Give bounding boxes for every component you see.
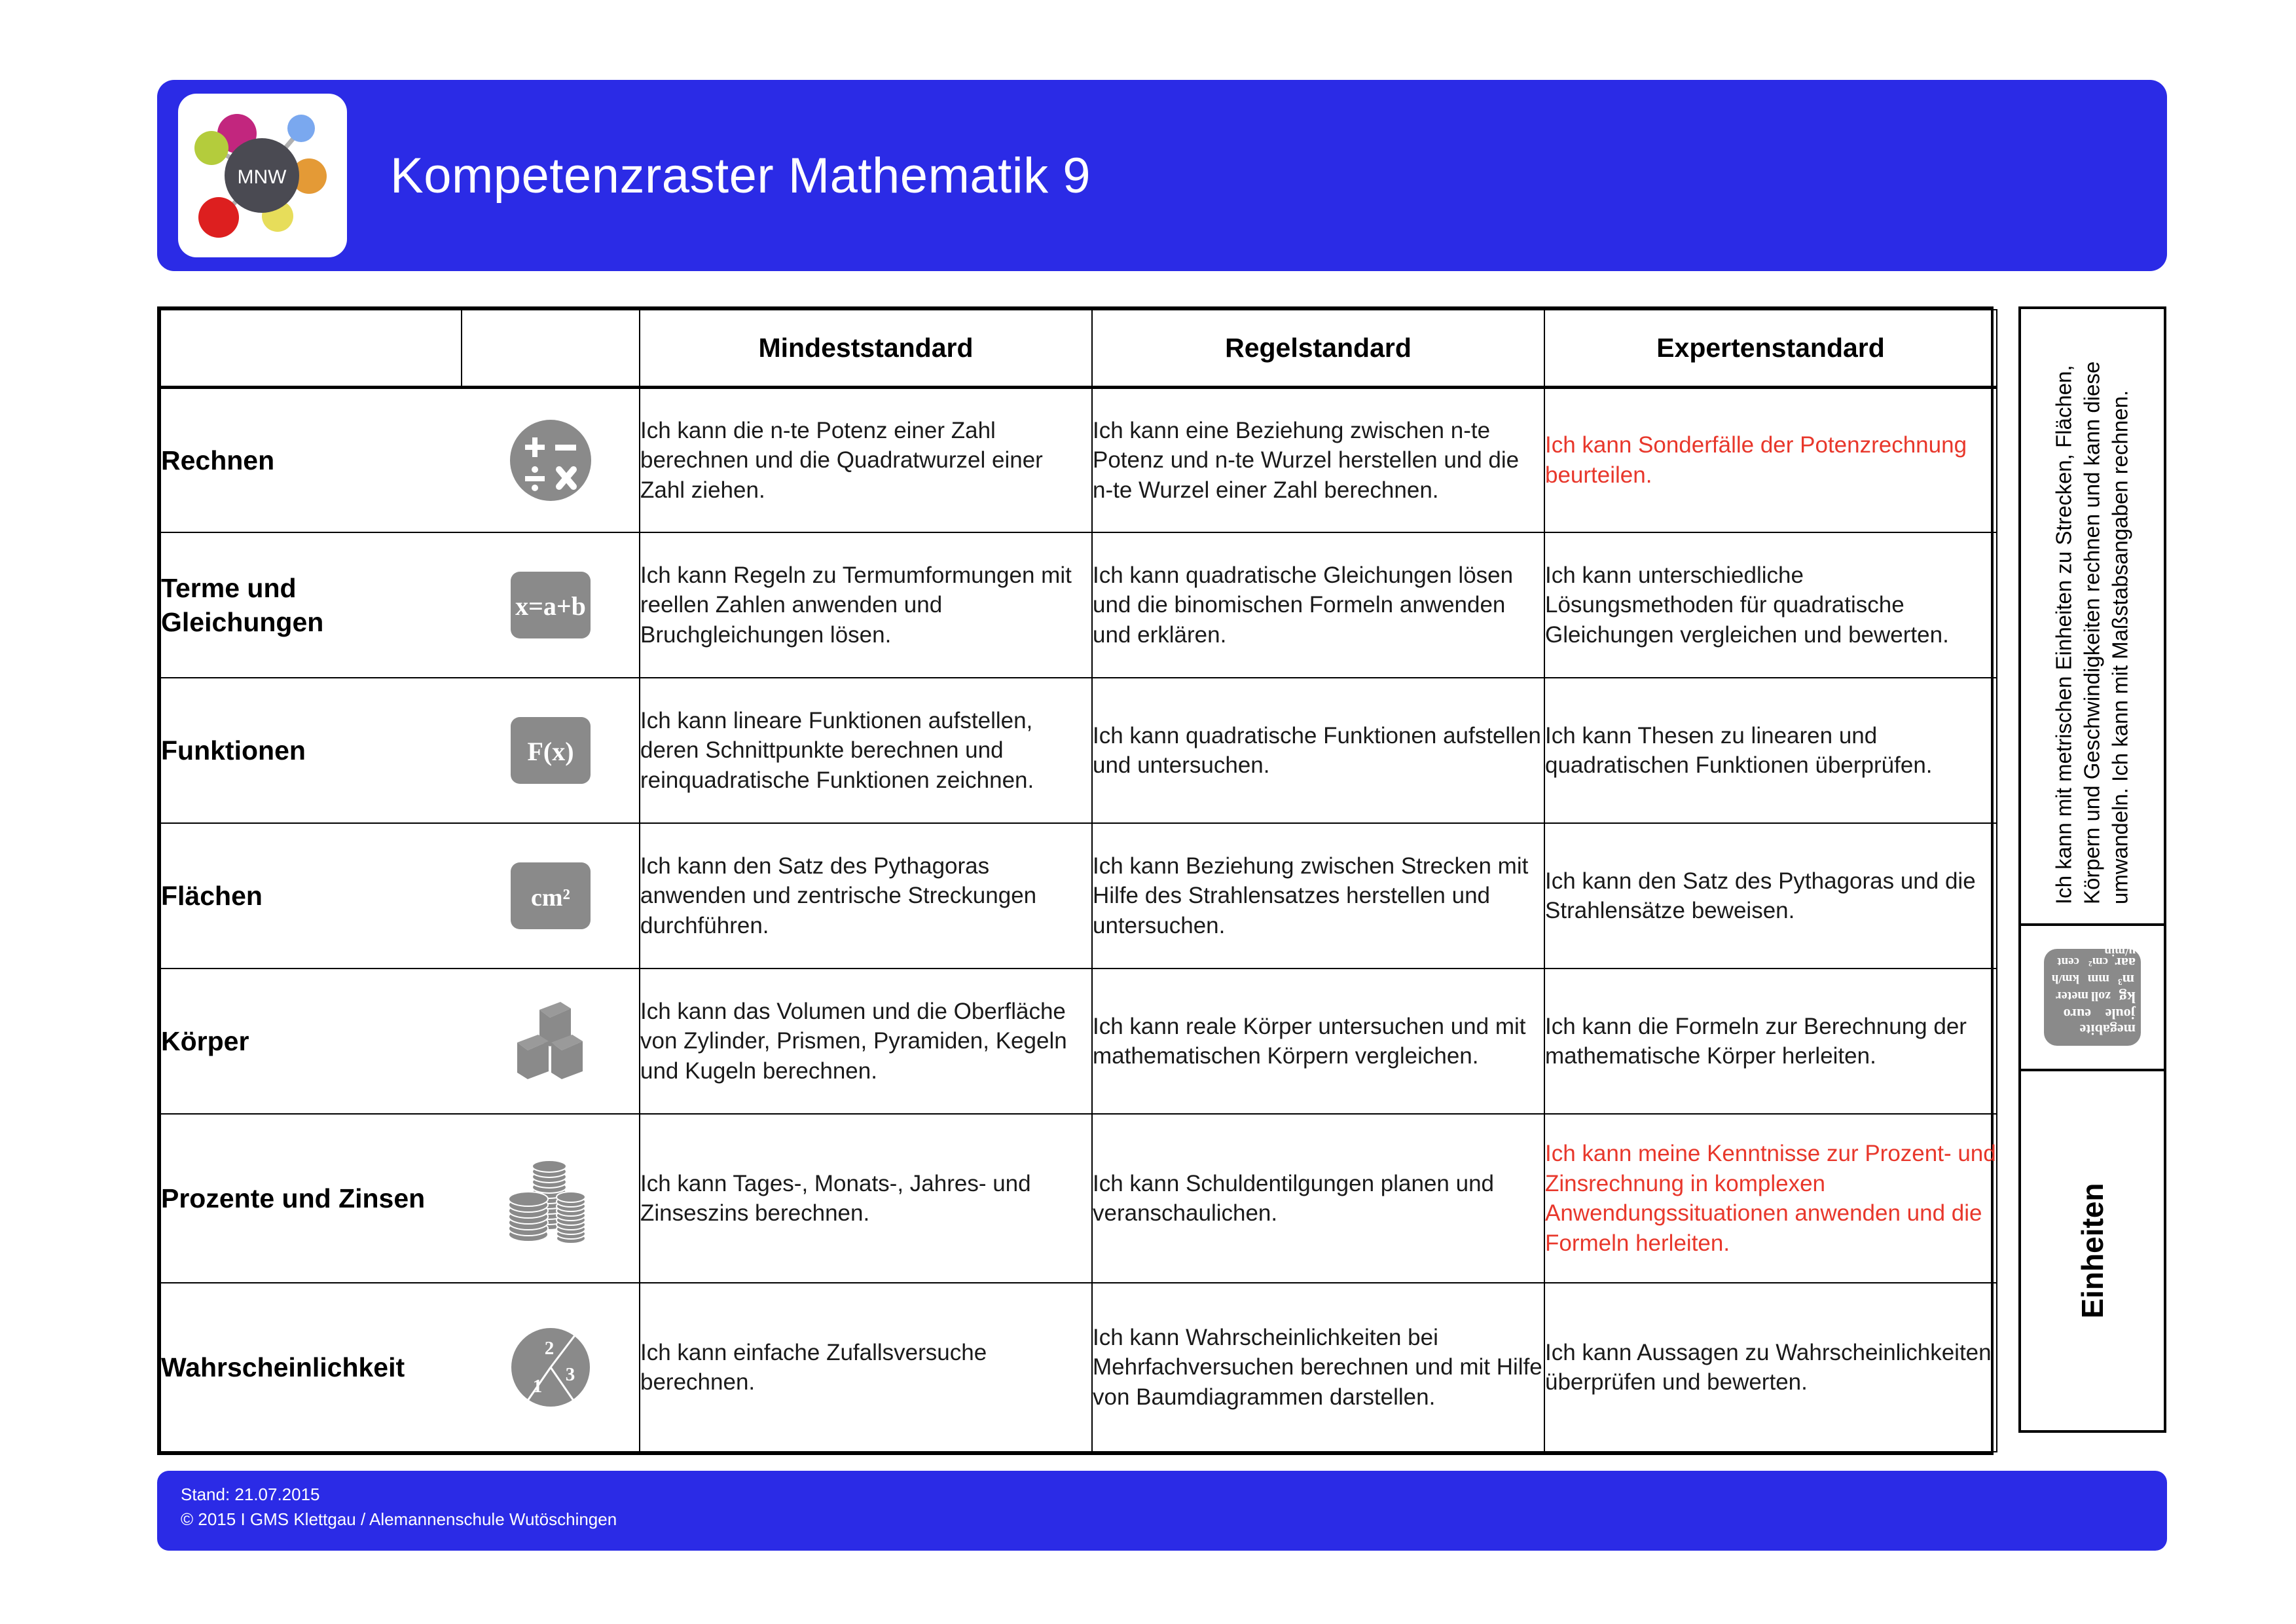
- topic-cell-rechnen: Rechnen: [160, 387, 462, 532]
- cell-regelstandard: Ich kann Schuldentilgungen planen und ve…: [1092, 1114, 1544, 1283]
- topic-cell-wahrscheinlichkeit: Wahrscheinlichkeit: [160, 1283, 462, 1452]
- einheiten-label: Einheiten: [2075, 1183, 2110, 1318]
- cell-regelstandard: Ich kann quadratische Gleichungen lösen …: [1092, 532, 1544, 678]
- equation-icon-label: x=a+b: [515, 591, 586, 621]
- spinner-sector-label-2: 2: [544, 1338, 554, 1359]
- cell-regelstandard: Ich kann Beziehung zwischen Strecken mit…: [1092, 823, 1544, 969]
- svg-text:MNW: MNW: [238, 166, 287, 188]
- einheiten-description-box: Ich kann mit metrischen Einheiten zu Str…: [2018, 306, 2166, 926]
- cell-expertenstandard: Ich kann den Satz des Pythagoras und die…: [1544, 823, 1997, 969]
- topic-cell-prozente-und-zinsen: Prozente und Zinsen: [160, 1114, 462, 1283]
- svg-text:euro: euro: [2064, 1006, 2091, 1022]
- table-row: Prozente und Zinsen: [160, 1114, 1997, 1283]
- header-expertenstandard: Expertenstandard: [1544, 310, 1997, 387]
- page-title: Kompetenzraster Mathematik 9: [390, 147, 1091, 204]
- svg-text:cent: cent: [2057, 955, 2079, 969]
- cell-expertenstandard: Ich kann die Formeln zur Berechnung der …: [1544, 969, 1997, 1114]
- cell-mindeststandard: Ich kann Tages-, Monats-, Jahres- und Zi…: [640, 1114, 1092, 1283]
- cell-expertenstandard: Ich kann unterschiedliche Lösungsmethode…: [1544, 532, 1997, 678]
- table-row: Flächen cm² Ich kann den Satz des Pythag…: [160, 823, 1997, 969]
- svg-text:mm: mm: [2087, 972, 2109, 986]
- table-row: Körper Ich kann: [160, 969, 1997, 1114]
- header-blank-topic: [160, 310, 462, 387]
- cell-mindeststandard: Ich kann die n-te Potenz einer Zahl bere…: [640, 387, 1092, 532]
- spinner-sector-label-3: 3: [565, 1364, 575, 1385]
- solid-blocks-icon: [508, 997, 593, 1086]
- icon-cell-funktionen: F(x): [462, 678, 640, 823]
- units-wordcloud-icon: megabite joule euro kg zoll meter m³ mm …: [2040, 945, 2145, 1050]
- mnw-network-logo-icon: MNW: [194, 107, 331, 244]
- svg-text:megabite: megabite: [2079, 1022, 2136, 1038]
- icon-cell-terme-und-gleichungen: x=a+b: [462, 532, 640, 678]
- function-icon: F(x): [509, 716, 592, 785]
- cell-regelstandard: Ich kann quadratische Funktionen aufstel…: [1092, 678, 1544, 823]
- page-header: MNW Kompetenzraster Mathematik 9: [157, 80, 2167, 271]
- cell-regelstandard: Ich kann eine Beziehung zwischen n-te Po…: [1092, 387, 1544, 532]
- cell-expertenstandard: Ich kann meine Kenntnisse zur Prozent- u…: [1544, 1114, 1997, 1283]
- svg-text:meter: meter: [2056, 989, 2088, 1003]
- probability-spinner-icon: 2 3 1: [510, 1327, 591, 1408]
- topic-cell-funktionen: Funktionen: [160, 678, 462, 823]
- grid-header-row: Mindeststandard Regelstandard Expertenst…: [160, 310, 1997, 387]
- header-regelstandard: Regelstandard: [1092, 310, 1544, 387]
- table-row: Funktionen F(x) Ich kann lineare Funktio…: [160, 678, 1997, 823]
- spinner-sector-label-1: 1: [532, 1376, 542, 1397]
- competency-grid: Mindeststandard Regelstandard Expertenst…: [157, 306, 1994, 1455]
- svg-text:kg: kg: [2119, 988, 2136, 1005]
- footer-stand: Stand: 21.07.2015: [181, 1483, 2167, 1507]
- einheiten-label-box: Einheiten: [2018, 1071, 2166, 1433]
- table-row: Rechnen: [160, 387, 1997, 532]
- cell-mindeststandard: Ich kann das Volumen und die Oberfläche …: [640, 969, 1092, 1114]
- area-unit-icon-label: cm²: [531, 884, 570, 912]
- equation-icon: x=a+b: [509, 570, 592, 640]
- einheiten-icon-box: megabite joule euro kg zoll meter m³ mm …: [2018, 926, 2166, 1071]
- cell-mindeststandard: Ich kann Regeln zu Termumformungen mit r…: [640, 532, 1092, 678]
- svg-text:joule: joule: [2105, 1006, 2136, 1022]
- einheiten-panel: Ich kann mit metrischen Einheiten zu Str…: [2018, 306, 2166, 1433]
- mnw-logo: MNW: [178, 94, 347, 257]
- icon-cell-koerper: [462, 969, 640, 1114]
- area-unit-icon: cm²: [509, 861, 592, 931]
- page-footer: Stand: 21.07.2015 © 2015 I GMS Klettgau …: [157, 1471, 2167, 1551]
- svg-text:m³: m³: [2118, 972, 2134, 988]
- table-row: Wahrscheinlichkeit 2 3 1: [160, 1283, 1997, 1452]
- header-mindeststandard: Mindeststandard: [640, 310, 1092, 387]
- cell-mindeststandard: Ich kann lineare Funktionen aufstellen, …: [640, 678, 1092, 823]
- einheiten-description: Ich kann mit metrischen Einheiten zu Str…: [2050, 328, 2135, 904]
- topic-cell-flaechen: Flächen: [160, 823, 462, 969]
- cell-expertenstandard: Ich kann Thesen zu linearen und quadrati…: [1544, 678, 1997, 823]
- svg-text:km/h: km/h: [2051, 972, 2079, 986]
- cell-regelstandard: Ich kann Wahrscheinlichkeiten bei Mehrfa…: [1092, 1283, 1544, 1452]
- function-icon-label: F(x): [527, 737, 574, 766]
- icon-cell-rechnen: [462, 387, 640, 532]
- icon-cell-flaechen: cm²: [462, 823, 640, 969]
- table-row: Terme und Gleichungen x=a+b Ich kann Reg…: [160, 532, 1997, 678]
- footer-copyright: © 2015 I GMS Klettgau / Alemannenschule …: [181, 1507, 2167, 1532]
- icon-cell-prozente-und-zinsen: [462, 1114, 640, 1283]
- svg-text:u/min: u/min: [2104, 945, 2136, 958]
- topic-cell-terme-und-gleichungen: Terme und Gleichungen: [160, 532, 462, 678]
- topic-cell-koerper: Körper: [160, 969, 462, 1114]
- cell-mindeststandard: Ich kann einfache Zufallsversuche berech…: [640, 1283, 1092, 1452]
- cell-expertenstandard: Ich kann Aussagen zu Wahrscheinlichkeite…: [1544, 1283, 1997, 1452]
- coin-stacks-icon: [505, 1151, 596, 1246]
- header-blank-icon: [462, 310, 640, 387]
- cell-expertenstandard: Ich kann Sonderfälle der Potenzrechnung …: [1544, 387, 1997, 532]
- cell-mindeststandard: Ich kann den Satz des Pythagoras anwende…: [640, 823, 1092, 969]
- svg-text:zoll: zoll: [2091, 989, 2111, 1003]
- arithmetic-operators-icon: [508, 418, 593, 503]
- icon-cell-wahrscheinlichkeit: 2 3 1: [462, 1283, 640, 1452]
- cell-regelstandard: Ich kann reale Körper untersuchen und mi…: [1092, 969, 1544, 1114]
